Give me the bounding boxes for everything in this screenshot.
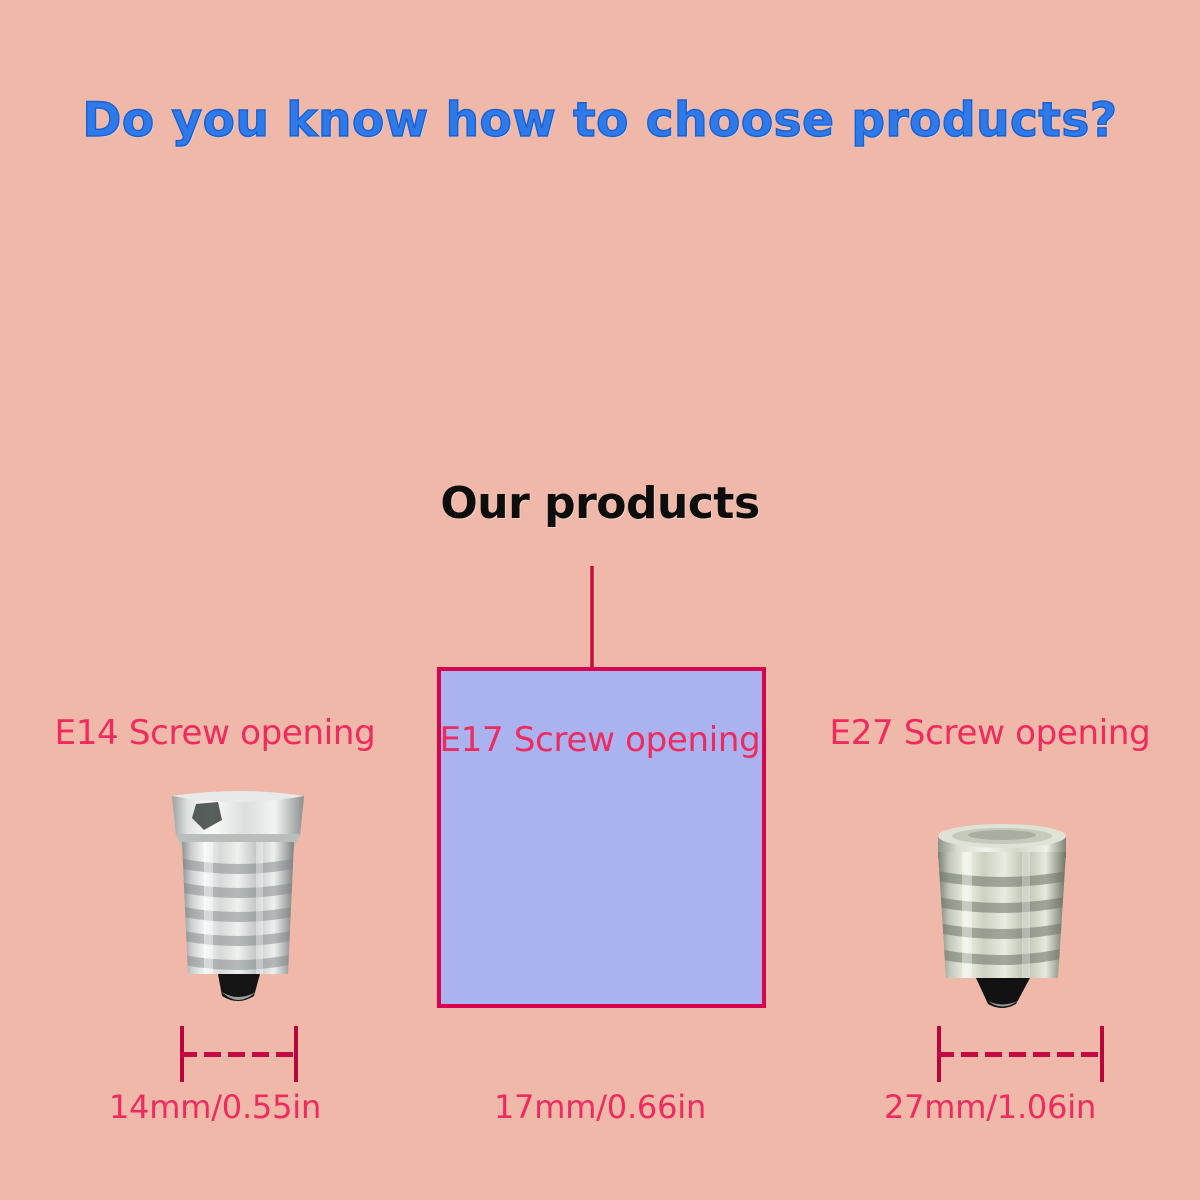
measurement-e27: 27mm/1.06in [790, 1088, 1190, 1126]
product-column-e27[interactable]: E27 Screw opening [790, 0, 1190, 1200]
product-label-e27: E27 Screw opening [790, 713, 1190, 753]
lamp-screw-base-e14-icon [160, 786, 316, 1008]
dimension-dashed-line [180, 1052, 298, 1057]
product-column-e14[interactable]: E14 Screw opening [20, 0, 410, 1200]
dimension-cap-right [294, 1026, 298, 1082]
measurement-e17: 17mm/0.66in [410, 1088, 790, 1126]
measurement-e14: 14mm/0.55in [20, 1088, 410, 1126]
product-column-e17[interactable]: E17 Screw opening [410, 0, 790, 1200]
product-label-e14: E14 Screw opening [20, 713, 410, 753]
product-label-e17: E17 Screw opening [410, 720, 790, 760]
dimension-line-e14 [180, 1026, 298, 1082]
product-size-guide: Do you know how to choose products? Our … [0, 0, 1200, 1200]
